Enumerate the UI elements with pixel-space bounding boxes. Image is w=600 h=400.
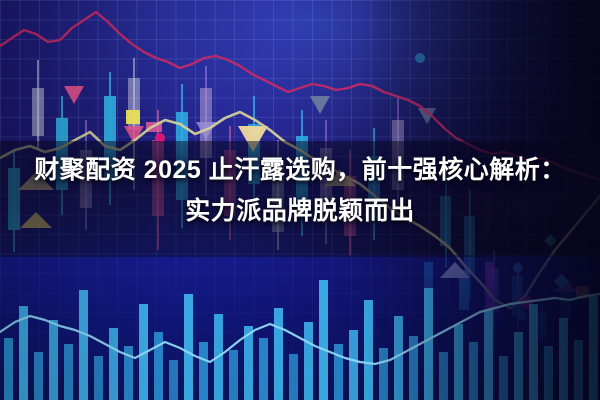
title-block: 财聚配资 2025 止汗露选购，前十强核心解析： 实力派品牌脱颖而出 <box>0 150 600 232</box>
title-line-2: 实力派品牌脱颖而出 <box>0 191 600 232</box>
title-line-1: 财聚配资 2025 止汗露选购，前十强核心解析： <box>0 150 600 191</box>
banner-image: 财聚配资 2025 止汗露选购，前十强核心解析： 实力派品牌脱颖而出 <box>0 0 600 400</box>
